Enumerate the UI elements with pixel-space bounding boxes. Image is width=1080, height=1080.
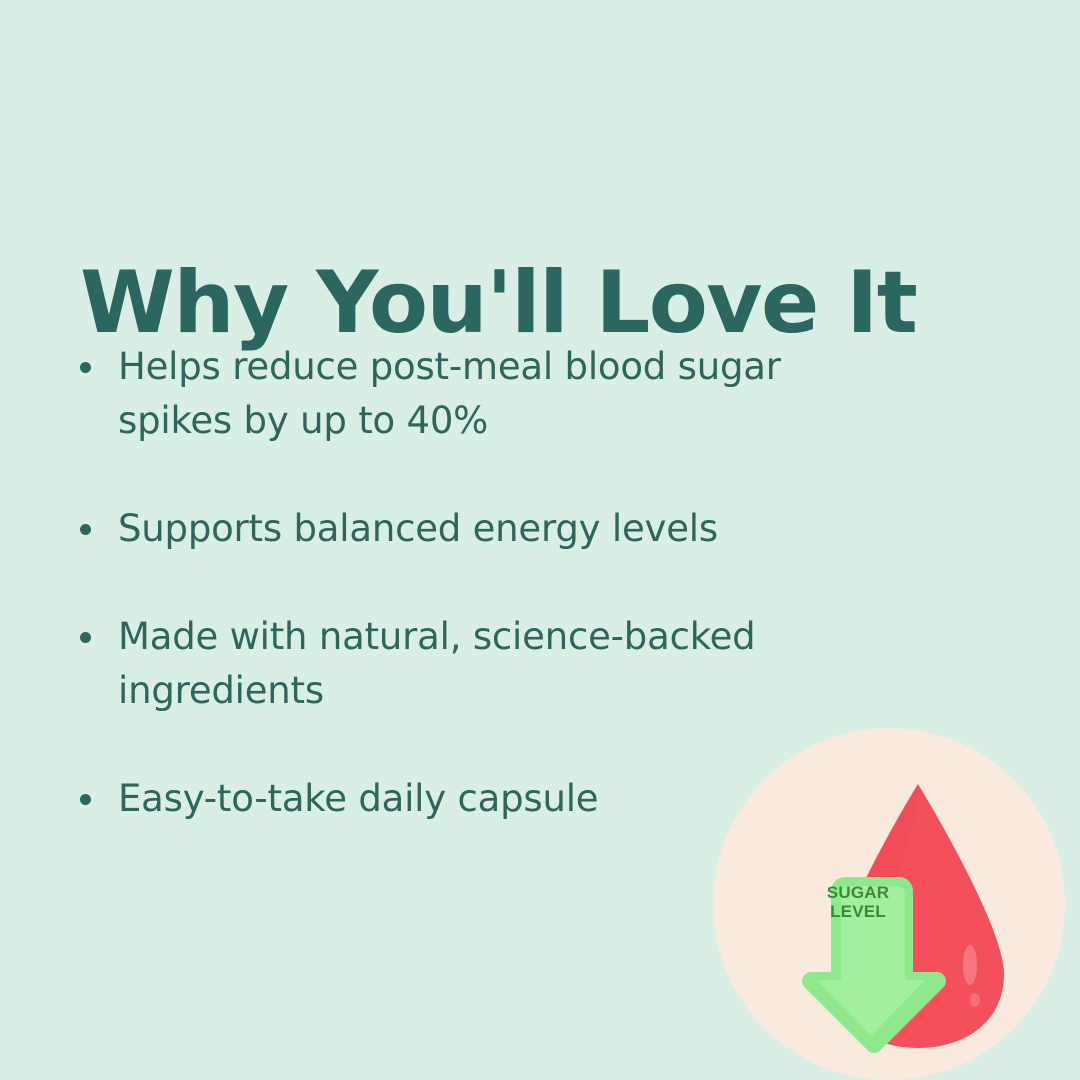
list-item: Supports balanced energy levels xyxy=(78,502,938,556)
page-title: Why You'll Love It xyxy=(80,251,916,355)
sugar-level-label: SUGAR LEVEL xyxy=(816,883,900,921)
bullet-dot-icon xyxy=(80,632,91,643)
blood-drop-sugar-level-graphic: SUGAR LEVEL xyxy=(713,728,1080,1080)
list-item-label: Supports balanced energy levels xyxy=(118,502,908,556)
bullet-dot-icon xyxy=(80,524,91,535)
bullet-dot-icon xyxy=(80,362,91,373)
list-item-label: Helps reduce post-meal blood sugar spike… xyxy=(118,340,818,448)
list-item-label: Made with natural, science-backed ingred… xyxy=(118,610,918,718)
list-item: Made with natural, science-backed ingred… xyxy=(78,610,938,718)
list-item: Helps reduce post-meal blood sugar spike… xyxy=(78,340,938,448)
bullet-dot-icon xyxy=(80,794,91,805)
promo-card: Why You'll Love It Helps reduce post-mea… xyxy=(0,0,1080,1080)
